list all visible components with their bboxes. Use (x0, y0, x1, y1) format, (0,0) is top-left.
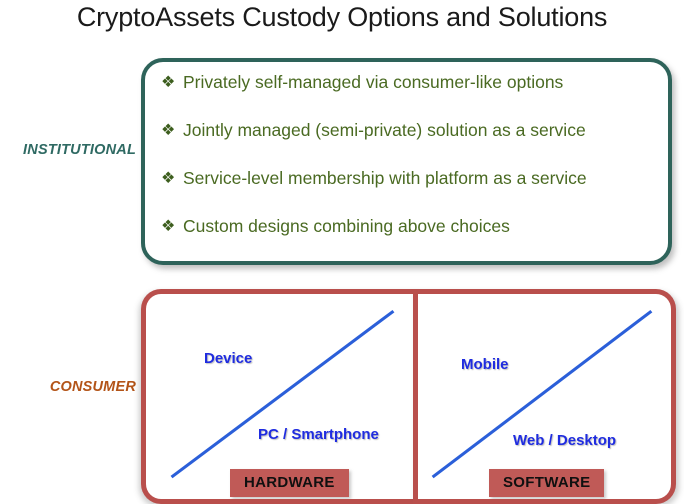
diamond-bullet-icon: ❖ (161, 170, 183, 188)
list-item: ❖ Privately self-managed via consumer-li… (161, 74, 660, 122)
institutional-panel: ❖ Privately self-managed via consumer-li… (141, 58, 672, 265)
panel-label-top: Device (204, 350, 252, 367)
list-item-label: Service-level membership with platform a… (183, 170, 587, 188)
institutional-bullet-list: ❖ Privately self-managed via consumer-li… (161, 74, 660, 253)
list-item: ❖ Service-level membership with platform… (161, 170, 660, 218)
consumer-panel-hardware: Device PC / Smartphone HARDWARE (141, 289, 418, 504)
panel-divider (413, 289, 418, 504)
list-item: ❖ Custom designs combining above choices (161, 218, 660, 266)
axis-label-institutional: INSTITUTIONAL (8, 142, 136, 158)
diamond-bullet-icon: ❖ (161, 74, 183, 92)
page-title: CryptoAssets Custody Options and Solutio… (0, 2, 684, 33)
list-item-label: Custom designs combining above choices (183, 218, 510, 236)
status-badge-hardware: HARDWARE (230, 469, 349, 497)
diamond-bullet-icon: ❖ (161, 218, 183, 236)
consumer-panel-software: Mobile Web / Desktop SOFTWARE (413, 289, 676, 504)
list-item: ❖ Jointly managed (semi-private) solutio… (161, 122, 660, 170)
panel-label-bottom: Web / Desktop (513, 432, 616, 449)
diamond-bullet-icon: ❖ (161, 122, 183, 140)
axis-label-consumer: CONSUMER (8, 379, 136, 395)
panel-label-top: Mobile (461, 356, 509, 373)
panel-label-bottom: PC / Smartphone (258, 426, 379, 443)
list-item-label: Jointly managed (semi-private) solution … (183, 122, 586, 140)
consumer-panel-group: Device PC / Smartphone HARDWARE Mobile W… (141, 289, 676, 504)
list-item-label: Privately self-managed via consumer-like… (183, 74, 563, 92)
status-badge-software: SOFTWARE (489, 469, 604, 497)
